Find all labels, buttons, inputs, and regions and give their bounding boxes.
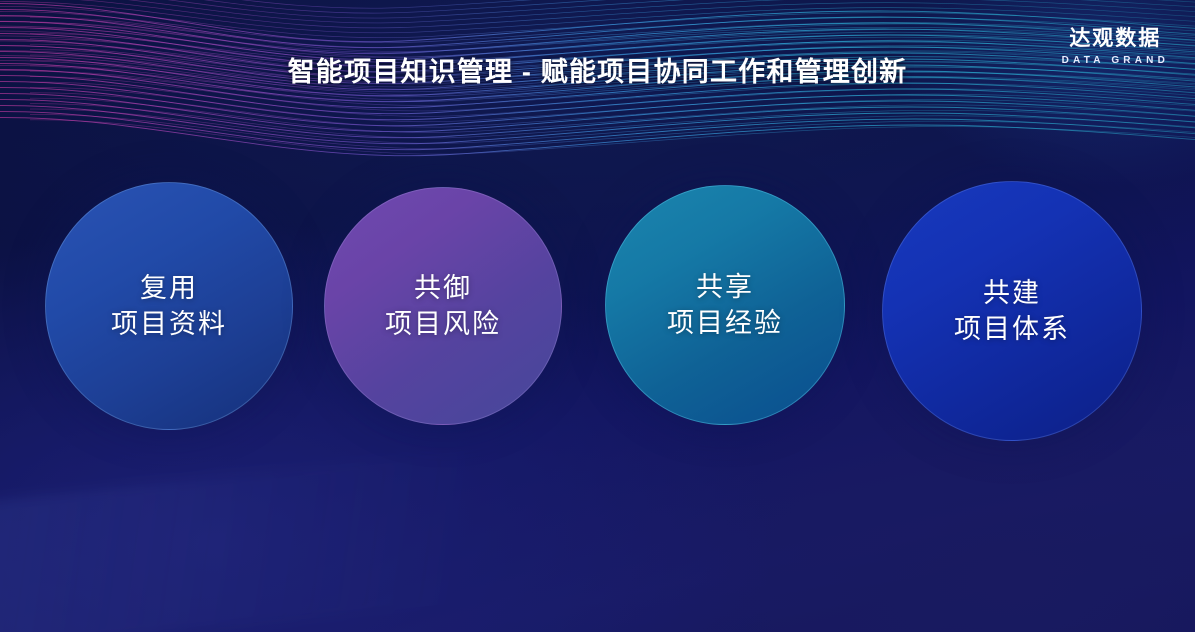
- circle-subtitle: 项目体系: [954, 311, 1070, 347]
- circle-subtitle: 项目风险: [385, 306, 501, 342]
- circle-item-defend[interactable]: 共御 项目风险: [324, 187, 562, 425]
- brand-logo: 达观数据 DATA GRAND: [1062, 28, 1169, 66]
- circle-title: 共享: [696, 269, 754, 305]
- circle-item-share[interactable]: 共享 项目经验: [605, 185, 845, 425]
- circle-title: 复用: [140, 270, 198, 306]
- circle-title: 共建: [983, 275, 1041, 311]
- brand-name-cn: 达观数据: [1062, 28, 1169, 49]
- circle-item-build[interactable]: 共建 项目体系: [882, 181, 1142, 441]
- slide-canvas: 智能项目知识管理 - 赋能项目协同工作和管理创新 达观数据 DATA GRAND…: [0, 0, 1195, 632]
- circle-row: 复用 项目资料 共御 项目风险 共享 项目经验 共建 项目体系: [0, 181, 1195, 431]
- page-title: 智能项目知识管理 - 赋能项目协同工作和管理创新: [0, 50, 1195, 89]
- light-streak: [0, 434, 646, 632]
- circle-subtitle: 项目经验: [667, 305, 783, 341]
- circle-title: 共御: [414, 270, 472, 306]
- brand-name-en: DATA GRAND: [1062, 56, 1169, 66]
- circle-subtitle: 项目资料: [111, 306, 227, 342]
- circle-item-reuse[interactable]: 复用 项目资料: [45, 182, 293, 430]
